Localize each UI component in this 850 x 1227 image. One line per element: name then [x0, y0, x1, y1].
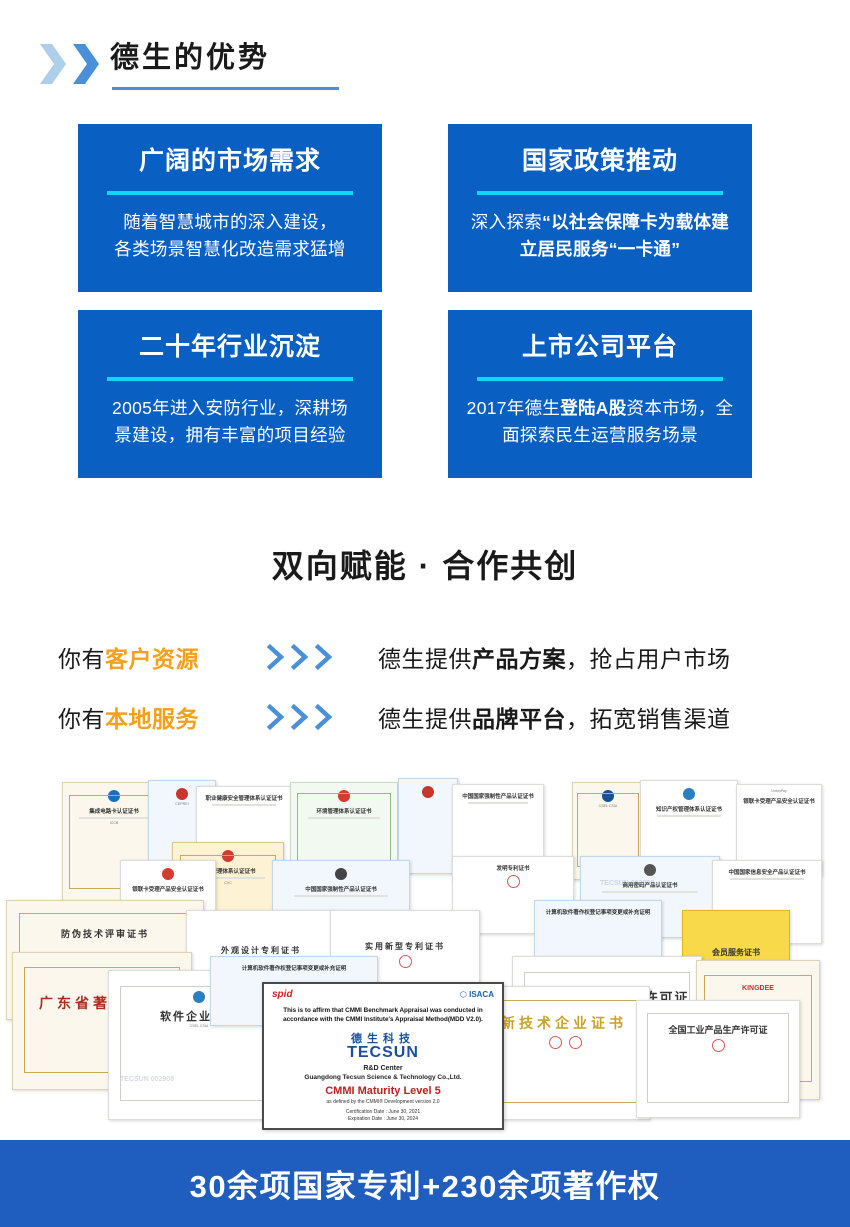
- card-divider: [107, 377, 353, 381]
- double-chevron-right-icon: [38, 42, 101, 86]
- card-body: 2017年德生登陆A股资本市场，全面探索民生运营服务场景: [464, 395, 736, 449]
- cert-rule: [468, 802, 528, 804]
- card-body: 2005年进入安防行业，深耕场 景建设，拥有丰富的项目经验: [94, 395, 366, 449]
- cert-seal-icon: [569, 1036, 582, 1049]
- cmmi-dates: Certification Date : June 30, 2021 Expir…: [272, 1109, 494, 1123]
- chevron-right-icon: [266, 643, 288, 671]
- cert-seal-icon: [549, 1036, 562, 1049]
- chevron-right-icon: [314, 703, 336, 731]
- card-body: 随着智慧城市的深入建设， 各类场景智慧化改造需求猛增: [94, 209, 366, 263]
- bottom-banner: 30余项国家专利+230余项著作权: [0, 1140, 850, 1227]
- cmmi-company: Guangdong Tecsun Science & Technology Co…: [272, 1074, 494, 1081]
- cert-rule: [730, 878, 803, 880]
- cert-org: CEPREI: [175, 802, 188, 807]
- card-title: 国家政策推动: [464, 144, 736, 178]
- certificate-thumb: 全国工业产品生产许可证: [636, 1000, 800, 1118]
- page-title: 德生的优势: [110, 36, 270, 80]
- cert-emblem-icon: [335, 868, 347, 880]
- chevron-right-icon: [290, 703, 312, 731]
- cmmi-cert-date: Certification Date : June 30, 2021: [272, 1109, 494, 1116]
- cmmi-certificate: spid ⬡ ISACA This is to affirm that CMMI…: [262, 982, 504, 1130]
- advantage-card-grid: 广阔的市场需求 随着智慧城市的深入建设， 各类场景智慧化改造需求猛增 国家政策推…: [78, 124, 772, 478]
- synergy-right-suffix: ，拓宽销售渠道: [566, 706, 731, 732]
- card-divider: [477, 377, 723, 381]
- cert-emblem-icon: [422, 786, 434, 798]
- card-divider: [477, 191, 723, 195]
- advantage-card: 广阔的市场需求 随着智慧城市的深入建设， 各类场景智慧化改造需求猛增: [78, 124, 382, 292]
- cert-seal-icon: [399, 955, 412, 968]
- title-underline: [112, 87, 339, 90]
- cert-rule: [657, 815, 722, 817]
- chevron-dark-icon: [71, 42, 101, 86]
- cmmi-affirm-text: This is to affirm that CMMI Benchmark Ap…: [272, 1006, 494, 1024]
- synergy-right-suffix: ，抢占用户市场: [566, 646, 731, 672]
- cmmi-unit: R&D Center: [272, 1065, 494, 1072]
- cert-title: 中国国家强制性产品认证证书: [305, 885, 377, 893]
- cmmi-exp-date: Expiration Date : June 30, 2024: [272, 1116, 494, 1123]
- cert-title: 计算机软件著作权登记事项变更或补充证明: [242, 964, 347, 972]
- cert-emblem-icon: [644, 864, 656, 876]
- cert-emblem-icon: [176, 788, 188, 800]
- synergy-left-highlight: 客户资源: [105, 646, 199, 672]
- bottom-banner-text: 30余项国家专利+230余项著作权: [190, 1161, 661, 1206]
- cert-title: 中国国家信息安全产品认证证书: [728, 868, 805, 876]
- cmmi-affirm-line-1: This is to affirm that CMMI Benchmark Ap…: [272, 1006, 494, 1015]
- card-body-line-1: 随着智慧城市的深入建设，: [123, 212, 337, 232]
- synergy-row-list: 你有客户资源 德生提供产品方案，抢占用户市场 你有本地服务 德生提供品牌平台，拓…: [0, 627, 850, 747]
- card-title: 上市公司平台: [464, 330, 736, 364]
- card-body-emphasis: 登陆A股: [560, 398, 626, 418]
- page-root: 德生的优势 广阔的市场需求 随着智慧城市的深入建设， 各类场景智慧化改造需求猛增…: [0, 0, 850, 1227]
- card-body-prefix: 深入探索: [471, 212, 542, 232]
- cert-title: 外观设计专利证书: [221, 945, 301, 956]
- cmmi-level: CMMI Maturity Level 5: [272, 1085, 494, 1097]
- synergy-row: 你有客户资源 德生提供产品方案，抢占用户市场: [0, 627, 850, 687]
- cert-title: 知识产权管理体系认证证书: [656, 805, 722, 813]
- synergy-left-text: 你有本地服务: [58, 700, 258, 734]
- chevron-light-icon: [38, 42, 68, 86]
- chevron-right-icon: [314, 643, 336, 671]
- card-divider: [107, 191, 353, 195]
- advantage-card: 国家政策推动 深入探索“以社会保障卡为载体建立居民服务“一卡通”: [448, 124, 752, 292]
- section-header: 德生的优势: [0, 36, 850, 92]
- synergy-heading: 双向赋能 · 合作共创: [0, 541, 850, 587]
- cert-emblem-icon: [162, 868, 174, 880]
- cert-title: 银联卡受理产品安全认证证书: [132, 885, 204, 893]
- isaca-logo-icon: ⬡ ISACA: [460, 990, 494, 999]
- cert-title: 实用新型专利证书: [365, 941, 445, 952]
- card-body-emphasis: “以社会保障卡为载体建立居民服务“一卡通”: [520, 212, 729, 259]
- cert-rule: [212, 804, 275, 806]
- cert-rule: [294, 895, 388, 897]
- tecsun-brand-en: TECSUN: [272, 1044, 494, 1062]
- synergy-right-bold: 产品方案: [472, 646, 566, 672]
- synergy-left-highlight: 本地服务: [105, 706, 199, 732]
- cert-title: 计算机软件著作权登记事项变更或补充证明: [546, 908, 651, 916]
- card-body-prefix: 2017年德生: [467, 398, 561, 418]
- cert-emblem-icon: [683, 788, 695, 800]
- cert-seal-icon: [507, 875, 520, 888]
- card-body: 深入探索“以社会保障卡为载体建立居民服务“一卡通”: [464, 209, 736, 263]
- cert-title: 会员服务证书: [712, 947, 760, 958]
- cert-org: UnionPay: [771, 789, 787, 794]
- synergy-right-text: 德生提供产品方案，抢占用户市场: [378, 640, 731, 674]
- synergy-right-text: 德生提供品牌平台，拓宽销售渠道: [378, 700, 731, 734]
- card-body-line-1: 2005年进入安防行业，深耕场: [112, 398, 348, 418]
- synergy-row: 你有本地服务 德生提供品牌平台，拓宽销售渠道: [0, 687, 850, 747]
- synergy-left-prefix: 你有: [58, 646, 105, 672]
- synergy-left-prefix: 你有: [58, 706, 105, 732]
- card-title: 广阔的市场需求: [94, 144, 366, 178]
- synergy-right-prefix: 德生提供: [378, 706, 472, 732]
- cert-title: 商用密码产品认证证书: [622, 881, 677, 889]
- synergy-left-text: 你有客户资源: [58, 640, 258, 674]
- synergy-right-prefix: 德生提供: [378, 646, 472, 672]
- cert-title: 发明专利证书: [496, 864, 529, 872]
- cert-title: 银联卡受理产品安全认证证书: [743, 797, 815, 805]
- cert-border: [647, 1013, 790, 1103]
- card-title: 二十年行业沉淀: [94, 330, 366, 364]
- advantage-card: 二十年行业沉淀 2005年进入安防行业，深耕场 景建设，拥有丰富的项目经验: [78, 310, 382, 478]
- triple-chevron-right-icon: [258, 703, 378, 731]
- card-body-line-2: 各类场景智慧化改造需求猛增: [114, 239, 345, 259]
- cert-seal-icon: [712, 1039, 725, 1052]
- cert-rule: [602, 891, 697, 893]
- cmmi-defined: as defined by the CMMI® Development vers…: [272, 1099, 494, 1105]
- cmmi-affirm-line-2: accordance with the CMMI Institute's App…: [272, 1015, 494, 1024]
- chevron-right-icon: [266, 703, 288, 731]
- synergy-right-bold: 品牌平台: [472, 706, 566, 732]
- cert-title: 职业健康安全管理体系认证证书: [205, 794, 282, 802]
- triple-chevron-right-icon: [258, 643, 378, 671]
- card-body-line-2: 景建设，拥有丰富的项目经验: [114, 425, 345, 445]
- chevron-right-icon: [290, 643, 312, 671]
- spid-logo-icon: spid: [272, 989, 293, 1000]
- advantage-card: 上市公司平台 2017年德生登陆A股资本市场，全面探索民生运营服务场景: [448, 310, 752, 478]
- cert-title: 中国国家强制性产品认证证书: [462, 792, 534, 800]
